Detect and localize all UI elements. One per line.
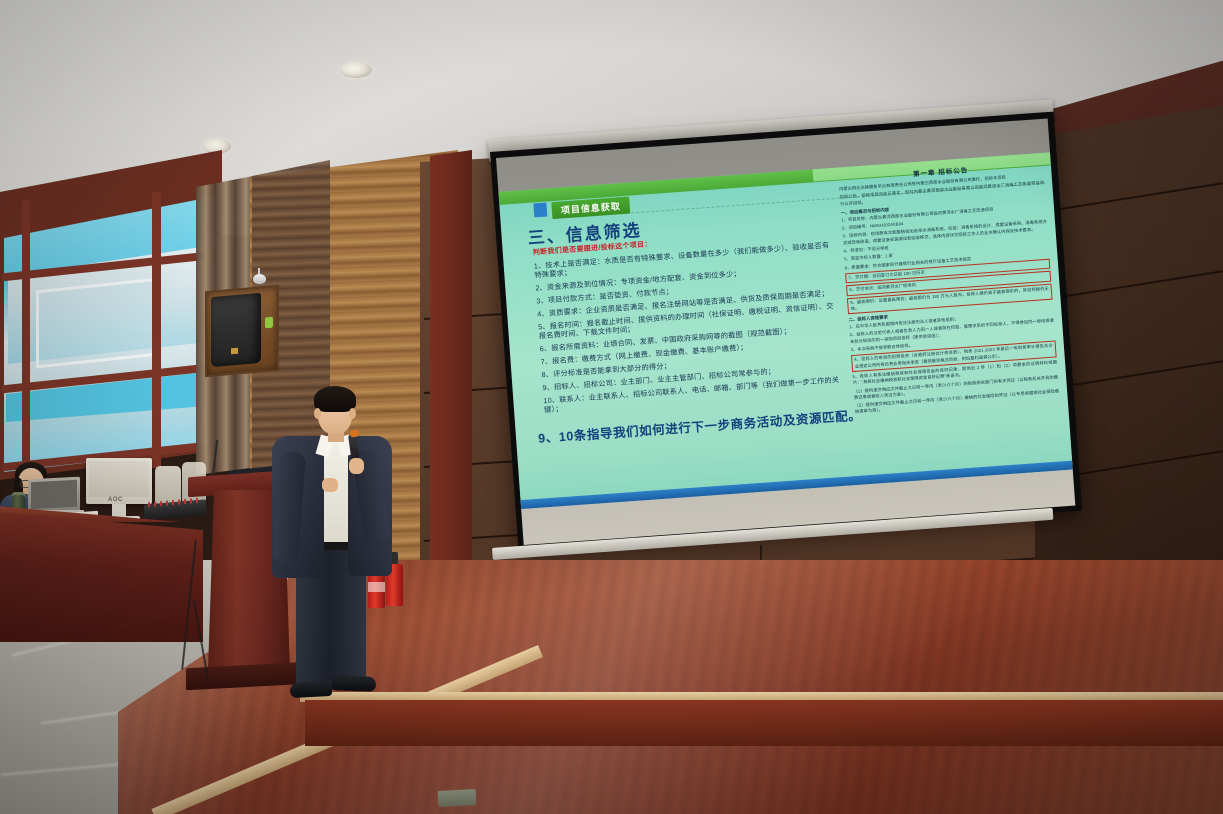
ppt-presenter-toolbar[interactable]: ‹ 第 5 页 共 14 页 ✎ 00:41:19 — [636, 152, 807, 171]
monitor-screen — [89, 461, 149, 497]
speaker-logo — [231, 348, 238, 355]
presenter-shoe-right — [332, 675, 376, 692]
powerpoint-slide[interactable]: 一诺环境 INNOVATION ENVIRONMENT Innogreen 英诺… — [498, 152, 1072, 509]
presenter-hand-right — [349, 458, 364, 474]
presenter-ear-right — [349, 408, 356, 419]
monitor-brand-label: AOC — [108, 497, 123, 503]
floor-socket-cover — [438, 789, 477, 807]
slide-timer: 00:41:19 — [778, 152, 802, 156]
slide-document-panel: 第一章 招标公告 内蒙古阴北达赖服务平台有限责任公司受内蒙古西部水业股份有限公司… — [838, 159, 1064, 473]
prev-slide-icon[interactable]: ‹ — [642, 160, 644, 166]
attendee-laptop-screen — [31, 480, 77, 509]
innogreen-logo-icon — [859, 152, 891, 168]
presenter-shoe-left — [290, 681, 333, 698]
presenter-hand-left — [322, 478, 338, 492]
ceiling-camera-icon — [253, 274, 266, 284]
window-mullion — [22, 200, 30, 472]
slide-page-indicator: 第 5 页 共 14 页 — [672, 153, 715, 165]
ceiling-downlight — [340, 62, 372, 78]
wall-speaker — [211, 293, 261, 367]
window-mullion — [152, 192, 161, 468]
projection-screen[interactable]: 一诺环境 INNOVATION ENVIRONMENT Innogreen 英诺… — [496, 118, 1075, 545]
presenter-ear-left — [314, 408, 321, 419]
section-tag-square — [533, 203, 547, 218]
green-sticker — [265, 317, 273, 329]
stage-front-face — [305, 700, 1223, 746]
slide-footer-bar — [521, 461, 1073, 510]
window-sash — [36, 278, 158, 369]
desk — [0, 512, 205, 642]
extinguisher-label — [368, 582, 385, 592]
conference-room-photo: 一诺环境 INNOVATION ENVIRONMENT Innogreen 英诺… — [0, 0, 1223, 814]
pen-icon[interactable]: ✎ — [744, 152, 750, 159]
